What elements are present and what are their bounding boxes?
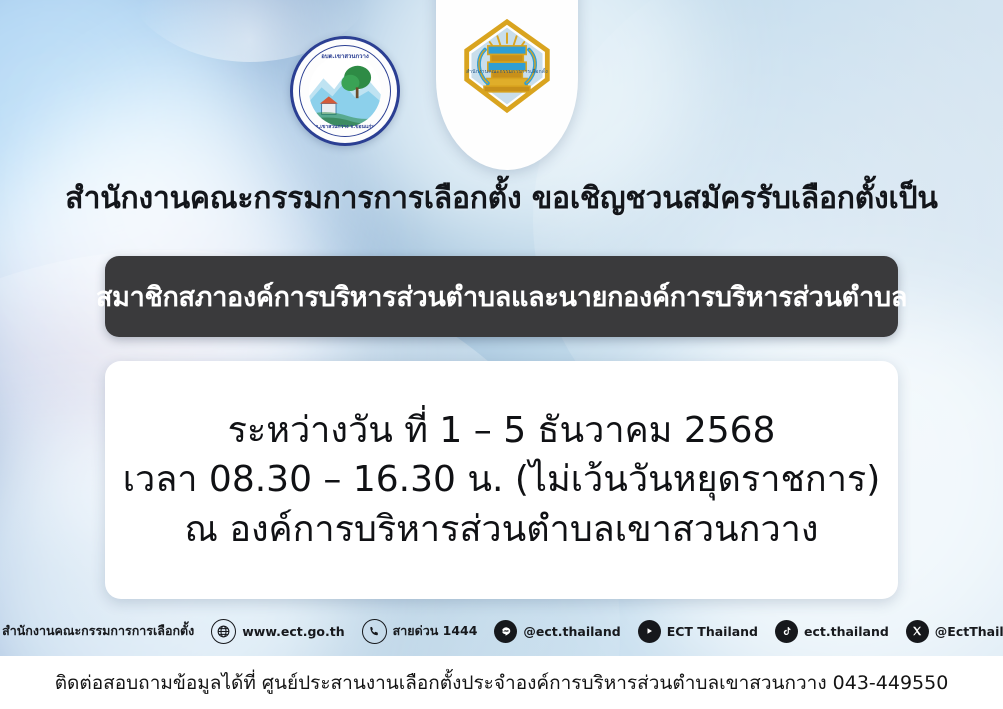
social-label-youtube: ECT Thailand — [667, 624, 758, 639]
social-item-tiktok[interactable]: ect.thailand — [775, 620, 889, 643]
line-icon: LINE — [494, 620, 517, 643]
social-label-line: @ect.thailand — [523, 624, 620, 639]
ect-emblem-caption: สำนักงานคณะกรรมการการเลือกตั้ง — [444, 68, 570, 76]
details-card: ระหว่างวัน ที่ 1 – 5 ธันวาคม 2568 เวลา 0… — [105, 361, 898, 599]
sao-seal-ring: อบต.เขาสวนกวาง อ.เขาสวนกวาง จ.ขอนแก่น — [299, 45, 391, 137]
sao-seal-bottom-text: อ.เขาสวนกวาง จ.ขอนแก่น — [300, 123, 390, 131]
tiktok-icon — [775, 620, 798, 643]
social-label-hotline: สายด่วน 1444 — [393, 621, 478, 641]
social-item-facebook[interactable]: สำนักงานคณะกรรมการการเลือกตั้ง — [0, 620, 194, 643]
sao-seal-illustration — [309, 55, 381, 127]
svg-text:LINE: LINE — [503, 628, 510, 632]
x-icon — [906, 620, 929, 643]
sao-seal-top-text: อบต.เขาสวนกวาง — [300, 51, 390, 61]
social-item-youtube[interactable]: ECT Thailand — [638, 620, 758, 643]
social-label-tiktok: ect.thailand — [804, 624, 889, 639]
social-item-line[interactable]: LINE @ect.thailand — [494, 620, 620, 643]
social-label-x: @EctThailand — [935, 624, 1003, 639]
ect-emblem-icon — [459, 18, 555, 114]
phone-icon — [362, 619, 387, 644]
position-banner: สมาชิกสภาองค์การบริหารส่วนตำบลและนายกองค… — [105, 256, 898, 337]
poster: อบต.เขาสวนกวาง อ.เขาสวนกวาง จ.ขอนแก่น — [0, 0, 1003, 656]
page-title: สำนักงานคณะกรรมการการเลือกตั้ง ขอเชิญชวน… — [0, 182, 1003, 215]
footer-caption: ติดต่อสอบถามข้อมูลได้ที่ ศูนย์ประสานงานเ… — [55, 668, 949, 698]
youtube-icon — [638, 620, 661, 643]
social-item-hotline[interactable]: สายด่วน 1444 — [362, 619, 478, 644]
social-item-website[interactable]: www.ect.go.th — [211, 619, 344, 644]
social-label-facebook: สำนักงานคณะกรรมการการเลือกตั้ง — [2, 621, 194, 641]
detail-line-date: ระหว่างวัน ที่ 1 – 5 ธันวาคม 2568 — [228, 407, 776, 455]
social-bar: สำนักงานคณะกรรมการการเลือกตั้ง www.ect.g… — [0, 607, 1003, 655]
detail-line-place: ณ องค์การบริหารส่วนตำบลเขาสวนกวาง — [185, 506, 819, 554]
sao-seal-scene — [309, 55, 381, 127]
position-banner-text: สมาชิกสภาองค์การบริหารส่วนตำบลและนายกองค… — [96, 275, 907, 318]
social-label-website: www.ect.go.th — [242, 624, 344, 639]
social-item-x[interactable]: @EctThailand — [906, 620, 1003, 643]
globe-icon — [211, 619, 236, 644]
detail-line-time: เวลา 08.30 – 16.30 น. (ไม่เว้นวันหยุดราช… — [123, 456, 881, 504]
footer-caption-strip: ติดต่อสอบถามข้อมูลได้ที่ ศูนย์ประสานงานเ… — [0, 656, 1003, 709]
sao-seal-logo: อบต.เขาสวนกวาง อ.เขาสวนกวาง จ.ขอนแก่น — [290, 36, 400, 146]
